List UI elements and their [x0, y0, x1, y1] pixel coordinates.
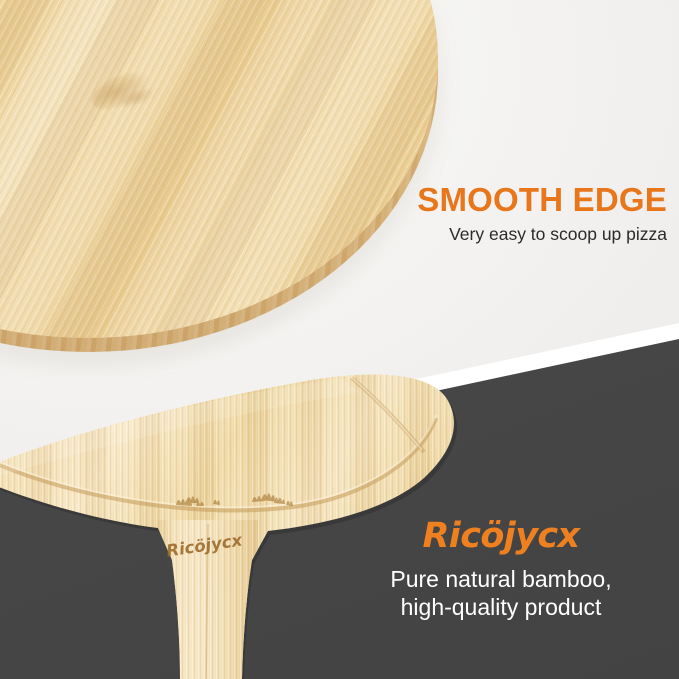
product-feature-image: SMOOTH EDGE Very easy to scoop up pizza [0, 0, 679, 679]
smooth-edge-subline: Very easy to scoop up pizza [247, 224, 667, 245]
bottom-text-block: Ricöjycx Pure natural bamboo, high-quali… [336, 519, 666, 621]
peel-body [0, 350, 679, 679]
brand-logo-ricojycx: Ricöjycx [336, 519, 666, 554]
tagline-line-1: Pure natural bamboo, [336, 566, 666, 594]
smooth-edge-headline: SMOOTH EDGE [247, 183, 667, 218]
tagline-line-2: high-quality product [336, 594, 666, 622]
brand-tagline: Pure natural bamboo, high-quality produc… [336, 566, 666, 621]
top-text-block: SMOOTH EDGE Very easy to scoop up pizza [247, 183, 667, 245]
